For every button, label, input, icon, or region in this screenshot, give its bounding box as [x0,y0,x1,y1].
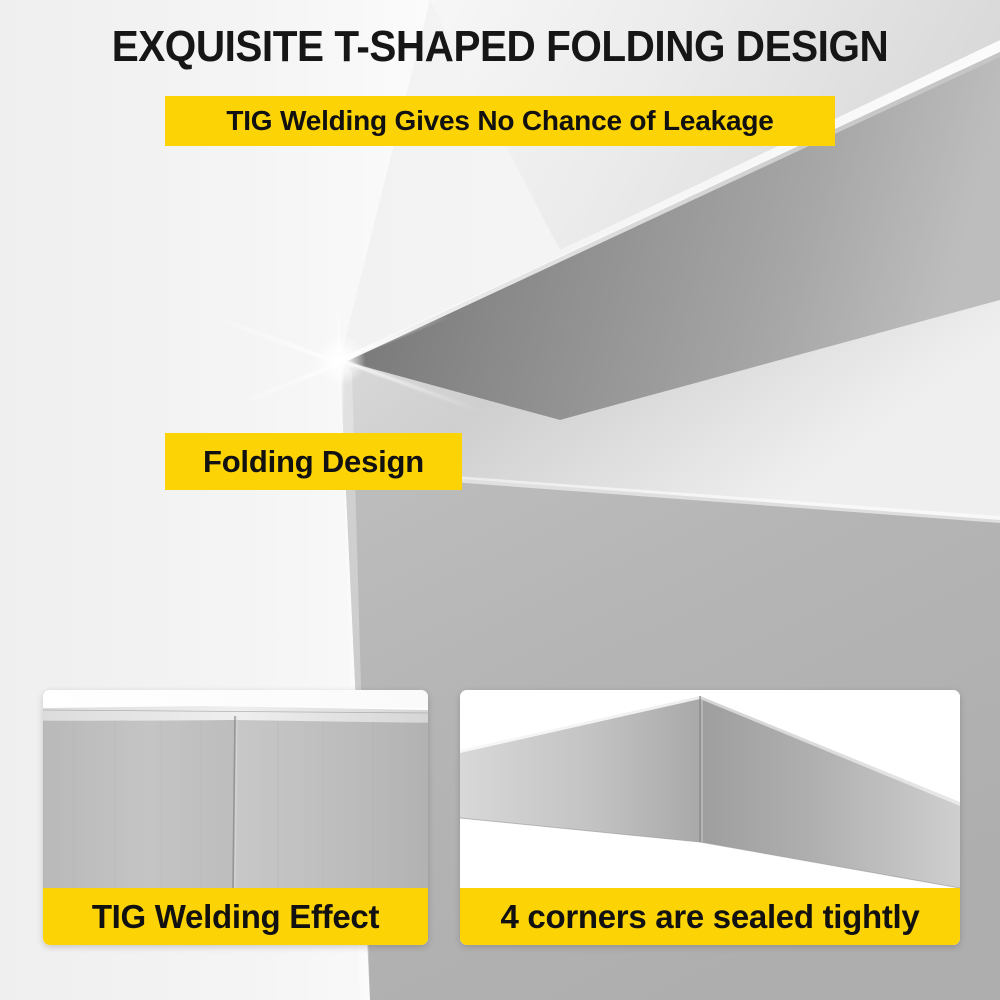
feature-label-folding-design: Folding Design [165,433,462,490]
card-sealed-corners: 4 corners are sealed tightly [460,690,960,945]
card-tig-welding-effect: TIG Welding Effect [43,690,428,945]
card-caption: 4 corners are sealed tightly [460,888,960,945]
card-caption: TIG Welding Effect [43,888,428,945]
product-feature-image: EXQUISITE T-SHAPED FOLDING DESIGN TIG We… [0,0,1000,1000]
page-title: EXQUISITE T-SHAPED FOLDING DESIGN [40,22,960,72]
subtitle-banner: TIG Welding Gives No Chance of Leakage [165,96,835,146]
